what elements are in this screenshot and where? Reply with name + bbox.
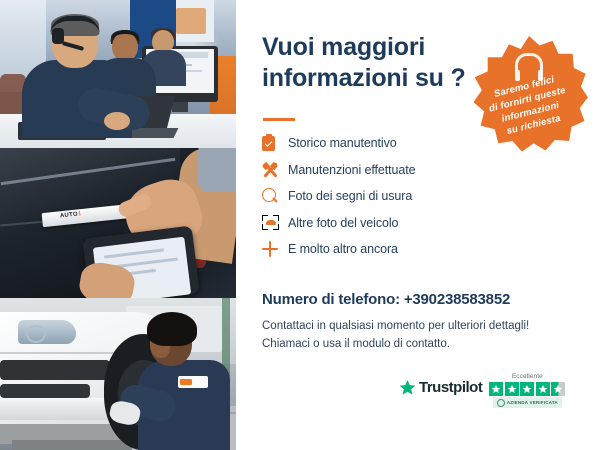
headlight [18, 320, 76, 344]
list-item-label: Foto dei segni di usura [288, 189, 412, 203]
trustpilot-rating: Eccellente [489, 373, 565, 408]
trustpilot-star-icon [399, 379, 416, 396]
ruler-brand-text: AUTO1 [60, 211, 82, 219]
page-title-line-2: informazioni su ? [262, 63, 492, 94]
verified-check-icon [497, 399, 505, 407]
trustpilot-widget[interactable]: Trustpilot Eccellente [399, 373, 565, 408]
promo-banner: AUTO1 [0, 0, 600, 450]
list-item-label: Manutenzioni effettuate [288, 163, 415, 177]
inspector-sleeve [198, 148, 236, 192]
front-grille [0, 360, 110, 380]
star-half [551, 382, 565, 396]
agent-hand [104, 112, 130, 130]
page-title-line-1: Vuoi maggiori [262, 32, 492, 63]
list-item-label: Storico manutentivo [288, 136, 397, 150]
list-item: Storico manutentivo [262, 130, 512, 157]
headset-icon [515, 53, 543, 72]
list-item-label: Altre foto del veicolo [288, 216, 398, 230]
verified-label: AZIENDA VERIFICATA [507, 400, 558, 405]
poster-image [176, 8, 206, 34]
phone-number[interactable]: Numero di telefono: +390238583852 [262, 291, 510, 308]
trustpilot-logo: Trustpilot [399, 373, 482, 396]
list-item: Manutenzioni effettuate [262, 157, 512, 184]
crossed-tools-icon [262, 162, 288, 178]
uniform-logo-badge [178, 376, 208, 388]
page-title: Vuoi maggiori informazioni su ? [262, 32, 492, 93]
list-item-label: E molto altro ancora [288, 242, 398, 256]
magnifier-icon [262, 188, 288, 204]
feature-list: Storico manutentivo Manutenzioni effettu… [262, 130, 512, 263]
list-item: Foto dei segni di usura [262, 183, 512, 210]
plus-icon [262, 241, 288, 257]
photo-column: AUTO1 [0, 0, 236, 450]
contact-description-line-1: Contattaci in qualsiasi momento per ulte… [262, 318, 582, 336]
contact-description-line-2: Chiamaci o usa il modulo di contatto. [262, 336, 582, 354]
star-rating [489, 382, 565, 396]
star-filled [505, 382, 519, 396]
lower-grille [0, 384, 90, 398]
trustpilot-wordmark: Trustpilot [419, 379, 482, 396]
mechanic-hair [147, 312, 197, 346]
content-panel: Vuoi maggiori informazioni su ? Saremo f… [236, 0, 600, 450]
star-filled [536, 382, 550, 396]
call-center-agents-photo [0, 0, 236, 148]
verified-company-badge: AZIENDA VERIFICATA [493, 397, 562, 408]
star-filled [489, 382, 503, 396]
car-lift-base [12, 440, 132, 450]
contact-description: Contattaci in qualsiasi momento per ulte… [262, 318, 582, 354]
list-item: Altre foto del veicolo [262, 210, 512, 237]
rating-label: Eccellente [512, 373, 543, 380]
mechanic-wheel-photo [0, 298, 236, 450]
clipboard-check-icon [262, 136, 288, 151]
list-item: E molto altro ancora [262, 236, 512, 263]
car-focus-icon [262, 215, 288, 230]
monitor-stand [172, 102, 188, 112]
star-filled [520, 382, 534, 396]
title-divider [263, 118, 295, 121]
vehicle-inspection-photo: AUTO1 [0, 148, 236, 298]
